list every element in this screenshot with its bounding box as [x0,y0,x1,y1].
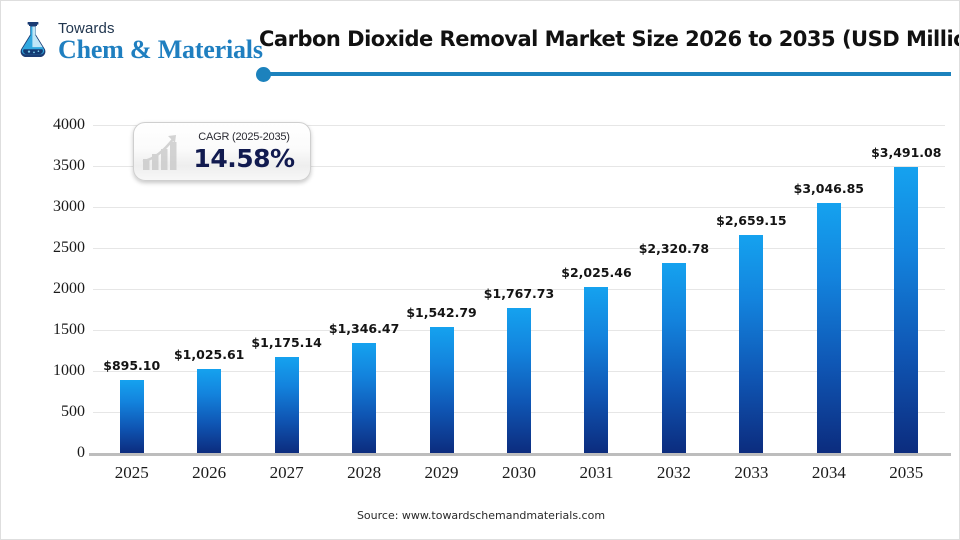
bar-value-label: $1,346.47 [329,321,399,336]
brand-wordmark: Towards Chem & Materials [58,21,263,63]
bar[interactable] [507,308,531,453]
bar-group[interactable]: $1,346.47 [326,125,402,453]
cagr-value: 14.58% [193,146,294,171]
bar-value-label: $895.10 [103,358,160,373]
x-axis-tick-label: 2032 [636,463,712,483]
bar-group[interactable]: $3,491.08 [868,125,944,453]
bar-group[interactable]: $1,542.79 [404,125,480,453]
y-axis-labels: 05001000150020002500300035004000 [23,125,85,453]
bar-group[interactable]: $3,046.85 [791,125,867,453]
chart-infographic: Towards Chem & Materials Carbon Dioxide … [0,0,960,540]
x-axis-tick-label: 2030 [481,463,557,483]
cagr-period-label: CAGR (2025-2035) [198,132,290,143]
y-axis-tick-label: 500 [25,403,85,421]
bar[interactable] [817,203,841,453]
bar-value-label: $1,025.61 [174,347,244,362]
bar-value-label: $2,025.46 [561,265,631,280]
x-axis-line [89,453,951,456]
bar[interactable] [584,287,608,453]
x-axis-tick-label: 2025 [94,463,170,483]
source-note: Source: www.towardschemandmaterials.com [1,509,960,522]
x-axis-tick-label: 2028 [326,463,402,483]
bar-group[interactable]: $2,025.46 [558,125,634,453]
x-axis-tick-label: 2031 [558,463,634,483]
bar-value-label: $2,320.78 [639,241,709,256]
y-axis-tick-label: 2000 [25,280,85,298]
page-title: Carbon Dioxide Removal Market Size 2026 … [259,27,949,51]
bar[interactable] [662,263,686,453]
title-divider [263,72,951,76]
x-axis-tick-label: 2035 [868,463,944,483]
x-axis-tick-label: 2029 [404,463,480,483]
x-axis-tick-label: 2026 [171,463,247,483]
bar-value-label: $2,659.15 [716,213,786,228]
title-divider-dot [256,67,271,82]
bar-value-label: $3,491.08 [871,145,941,160]
y-axis-tick-label: 2500 [25,239,85,257]
bar[interactable] [739,235,763,453]
bar-chart-growth-icon [140,132,186,172]
y-axis-tick-label: 0 [25,444,85,462]
bar-group[interactable]: $2,659.15 [713,125,789,453]
x-axis-tick-label: 2034 [791,463,867,483]
bar-value-label: $1,542.79 [406,305,476,320]
y-axis-tick-label: 1500 [25,321,85,339]
bar-value-label: $1,767.73 [484,286,554,301]
brand-name-top: Towards [58,21,263,36]
y-axis-tick-label: 4000 [25,116,85,134]
bar[interactable] [352,343,376,453]
y-axis-tick-label: 3000 [25,198,85,216]
flask-icon [13,21,53,63]
bar[interactable] [120,380,144,453]
y-axis-tick-label: 1000 [25,362,85,380]
bar-value-label: $1,175.14 [251,335,321,350]
bar[interactable] [275,357,299,453]
x-axis-tick-label: 2027 [249,463,325,483]
bar[interactable] [430,327,454,454]
bar-value-label: $3,046.85 [794,181,864,196]
brand-name-main: Chem & Materials [58,37,263,63]
header: Towards Chem & Materials Carbon Dioxide … [1,1,960,87]
cagr-text-block: CAGR (2025-2035) 14.58% [186,132,302,171]
cagr-badge: CAGR (2025-2035) 14.58% [133,122,311,181]
bar[interactable] [894,167,918,453]
bar-group[interactable]: $1,767.73 [481,125,557,453]
y-axis-tick-label: 3500 [25,157,85,175]
bar-group[interactable]: $2,320.78 [636,125,712,453]
bar[interactable] [197,369,221,453]
x-axis-tick-label: 2033 [713,463,789,483]
brand-logo[interactable]: Towards Chem & Materials [13,21,263,63]
